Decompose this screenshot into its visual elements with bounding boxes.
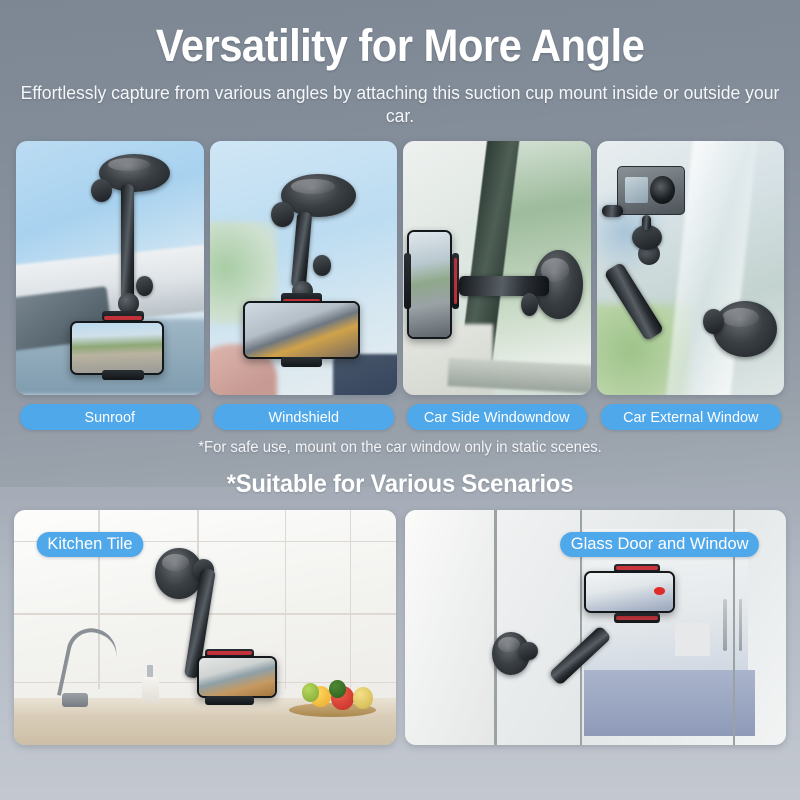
door-handle[interactable]: [723, 599, 727, 651]
safety-footnote: *For safe use, mount on the car window o…: [16, 439, 784, 457]
gallery-panel-glass-door[interactable]: Glass Door and Window: [405, 510, 787, 745]
section-two: *Suitable for Various Scenarios: [0, 457, 800, 745]
extension-arm: [459, 276, 549, 296]
clamp-accent-top: [104, 316, 142, 320]
scene-car-external-window: [597, 141, 785, 395]
phone-clamp-left: [404, 253, 411, 309]
clamp-accent-right: [454, 258, 457, 304]
section-two-title: *Suitable for Various Scenarios: [20, 457, 780, 499]
lock-knob: [519, 642, 538, 661]
camera-lens: [650, 176, 675, 205]
phone-clamp-bottom: [102, 370, 143, 380]
tilt-knob: [136, 276, 153, 296]
faucet-base: [62, 693, 89, 707]
scene-windshield-interior: [210, 141, 398, 395]
lock-knob: [91, 179, 112, 202]
scenario-badge-row: Sunroof Windshield Car Side Windowndow C…: [0, 404, 800, 430]
tag-kitchen-tile[interactable]: Kitchen Tile: [37, 532, 144, 557]
tile-grout-line: [350, 510, 352, 689]
chair: [675, 623, 709, 656]
action-camera: [617, 166, 685, 214]
phone-screen: [586, 573, 674, 611]
door-handle[interactable]: [739, 599, 743, 651]
glass-door-left: [405, 510, 497, 745]
tilt-knob: [313, 255, 332, 275]
clamp-accent-top: [616, 566, 658, 570]
scene-kitchen-tile-wall: Kitchen Tile: [14, 510, 396, 745]
seat-blur: [333, 354, 397, 395]
mounted-smartphone: [584, 571, 676, 613]
fruit-item: [353, 687, 373, 708]
extension-arm: [121, 184, 134, 301]
gallery-panel-kitchen-tile[interactable]: Kitchen Tile: [14, 510, 396, 745]
clamp-accent-bottom: [616, 616, 658, 620]
phone-screen: [199, 658, 275, 696]
tag-glass-door-and-window[interactable]: Glass Door and Window: [560, 532, 759, 557]
lock-knob: [703, 309, 724, 334]
scene-sunroof-interior: [16, 141, 204, 395]
hero-subtitle: Effortlessly capture from various angles…: [20, 81, 780, 128]
gallery-panel-windshield[interactable]: [210, 141, 398, 395]
lock-knob: [271, 202, 294, 227]
phone-screen: [409, 232, 450, 337]
mounted-smartphone: [407, 230, 452, 339]
page-title: Versatility for More Angle: [28, 22, 772, 70]
gallery-panel-car-side-window[interactable]: [403, 141, 591, 395]
scene-glass-door-corridor: Glass Door and Window: [405, 510, 787, 745]
mounted-smartphone: [243, 301, 359, 359]
bottom-gallery: Kitchen Tile: [0, 510, 800, 745]
camera-mount-finger: [642, 215, 651, 230]
clamp-accent-top: [207, 651, 253, 655]
gallery-panel-car-external-window[interactable]: [597, 141, 785, 395]
phone-screen: [245, 303, 357, 357]
scene-car-side-window: [403, 141, 591, 395]
phone-clamp-bottom: [205, 696, 255, 705]
door-mullion: [494, 510, 497, 745]
hero-section: Versatility for More Angle Effortlessly …: [0, 0, 800, 128]
fruit-item: [302, 683, 320, 702]
corridor-floor: [584, 670, 756, 736]
mounted-smartphone: [197, 656, 277, 698]
phone-screen: [72, 323, 162, 372]
camera-front-screen: [625, 177, 649, 204]
top-gallery: [0, 141, 800, 395]
phone-clamp-bottom: [281, 357, 322, 367]
camera-side-button: [602, 205, 623, 218]
suction-cup: [713, 301, 777, 357]
tile-grout-line: [285, 510, 287, 689]
soap-dispenser: [142, 677, 159, 703]
badge-sunroof[interactable]: Sunroof: [20, 404, 200, 430]
badge-car-side-window[interactable]: Car Side Windowndow: [407, 404, 587, 430]
extension-arm: [291, 212, 313, 289]
badge-windshield[interactable]: Windshield: [213, 404, 393, 430]
fruit-item: [329, 680, 346, 698]
mounted-smartphone: [70, 321, 164, 374]
recording-indicator: [654, 587, 665, 595]
badge-car-external-window[interactable]: Car External Window: [600, 404, 780, 430]
gallery-panel-sunroof[interactable]: [16, 141, 204, 395]
